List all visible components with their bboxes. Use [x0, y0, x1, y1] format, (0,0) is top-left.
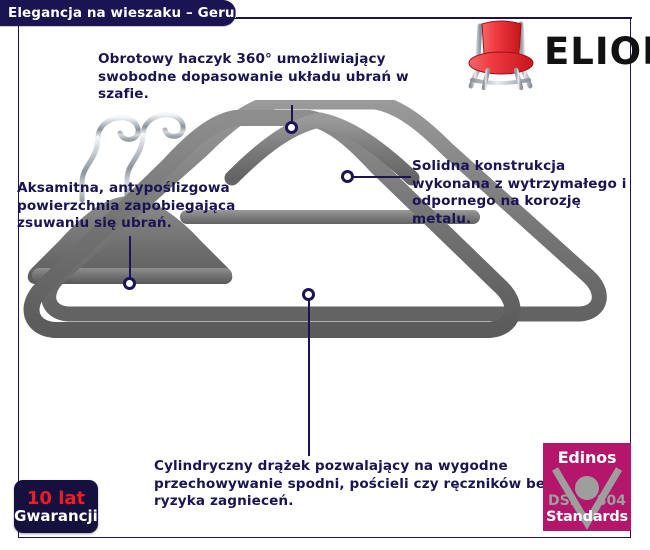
callout-velvet-leader: [129, 236, 131, 280]
callout-hook-marker: [285, 121, 298, 134]
promo-graphic: Elegancja na wieszaku – Geruli 3X!: [0, 0, 650, 550]
edinos-label: Standards: [543, 509, 631, 525]
callout-velvet-text: Aksamitna, antypoślizgowa powierzchnia z…: [17, 180, 275, 233]
brand-wordmark: ELIOR: [544, 32, 650, 72]
brand-logo: ELIOR: [466, 14, 626, 90]
banner-title: Elegancja na wieszaku – Geruli 3X!: [8, 0, 275, 26]
edinos-code-right: 804: [597, 493, 626, 509]
callout-velvet-marker: [123, 277, 136, 290]
guarantee-badge: 10 lat Gwarancji: [14, 480, 98, 533]
edinos-brand: Edinos: [543, 448, 631, 467]
callout-metal-text: Solidna konstrukcja wykonana z wytrzymał…: [412, 158, 627, 228]
edinos-standards-badge: Edinos DSI 804 Standards: [543, 443, 631, 531]
guarantee-label: Gwarancji: [14, 508, 98, 525]
callout-metal-leader: [353, 176, 411, 178]
callout-bar-leader: [308, 298, 310, 456]
callout-bar-marker: [302, 288, 315, 301]
callout-hook-text: Obrotowy haczyk 360° umożliwiający swobo…: [98, 51, 444, 104]
guarantee-years: 10 lat: [27, 489, 85, 508]
edinos-code-left: DSI: [548, 493, 575, 509]
callout-metal-marker: [341, 170, 354, 183]
red-chair-icon: [466, 14, 538, 90]
product-photo-velvet-hangers: [20, 100, 630, 430]
callout-bar-text: Cylindryczny drążek pozwalający na wygod…: [154, 458, 554, 511]
